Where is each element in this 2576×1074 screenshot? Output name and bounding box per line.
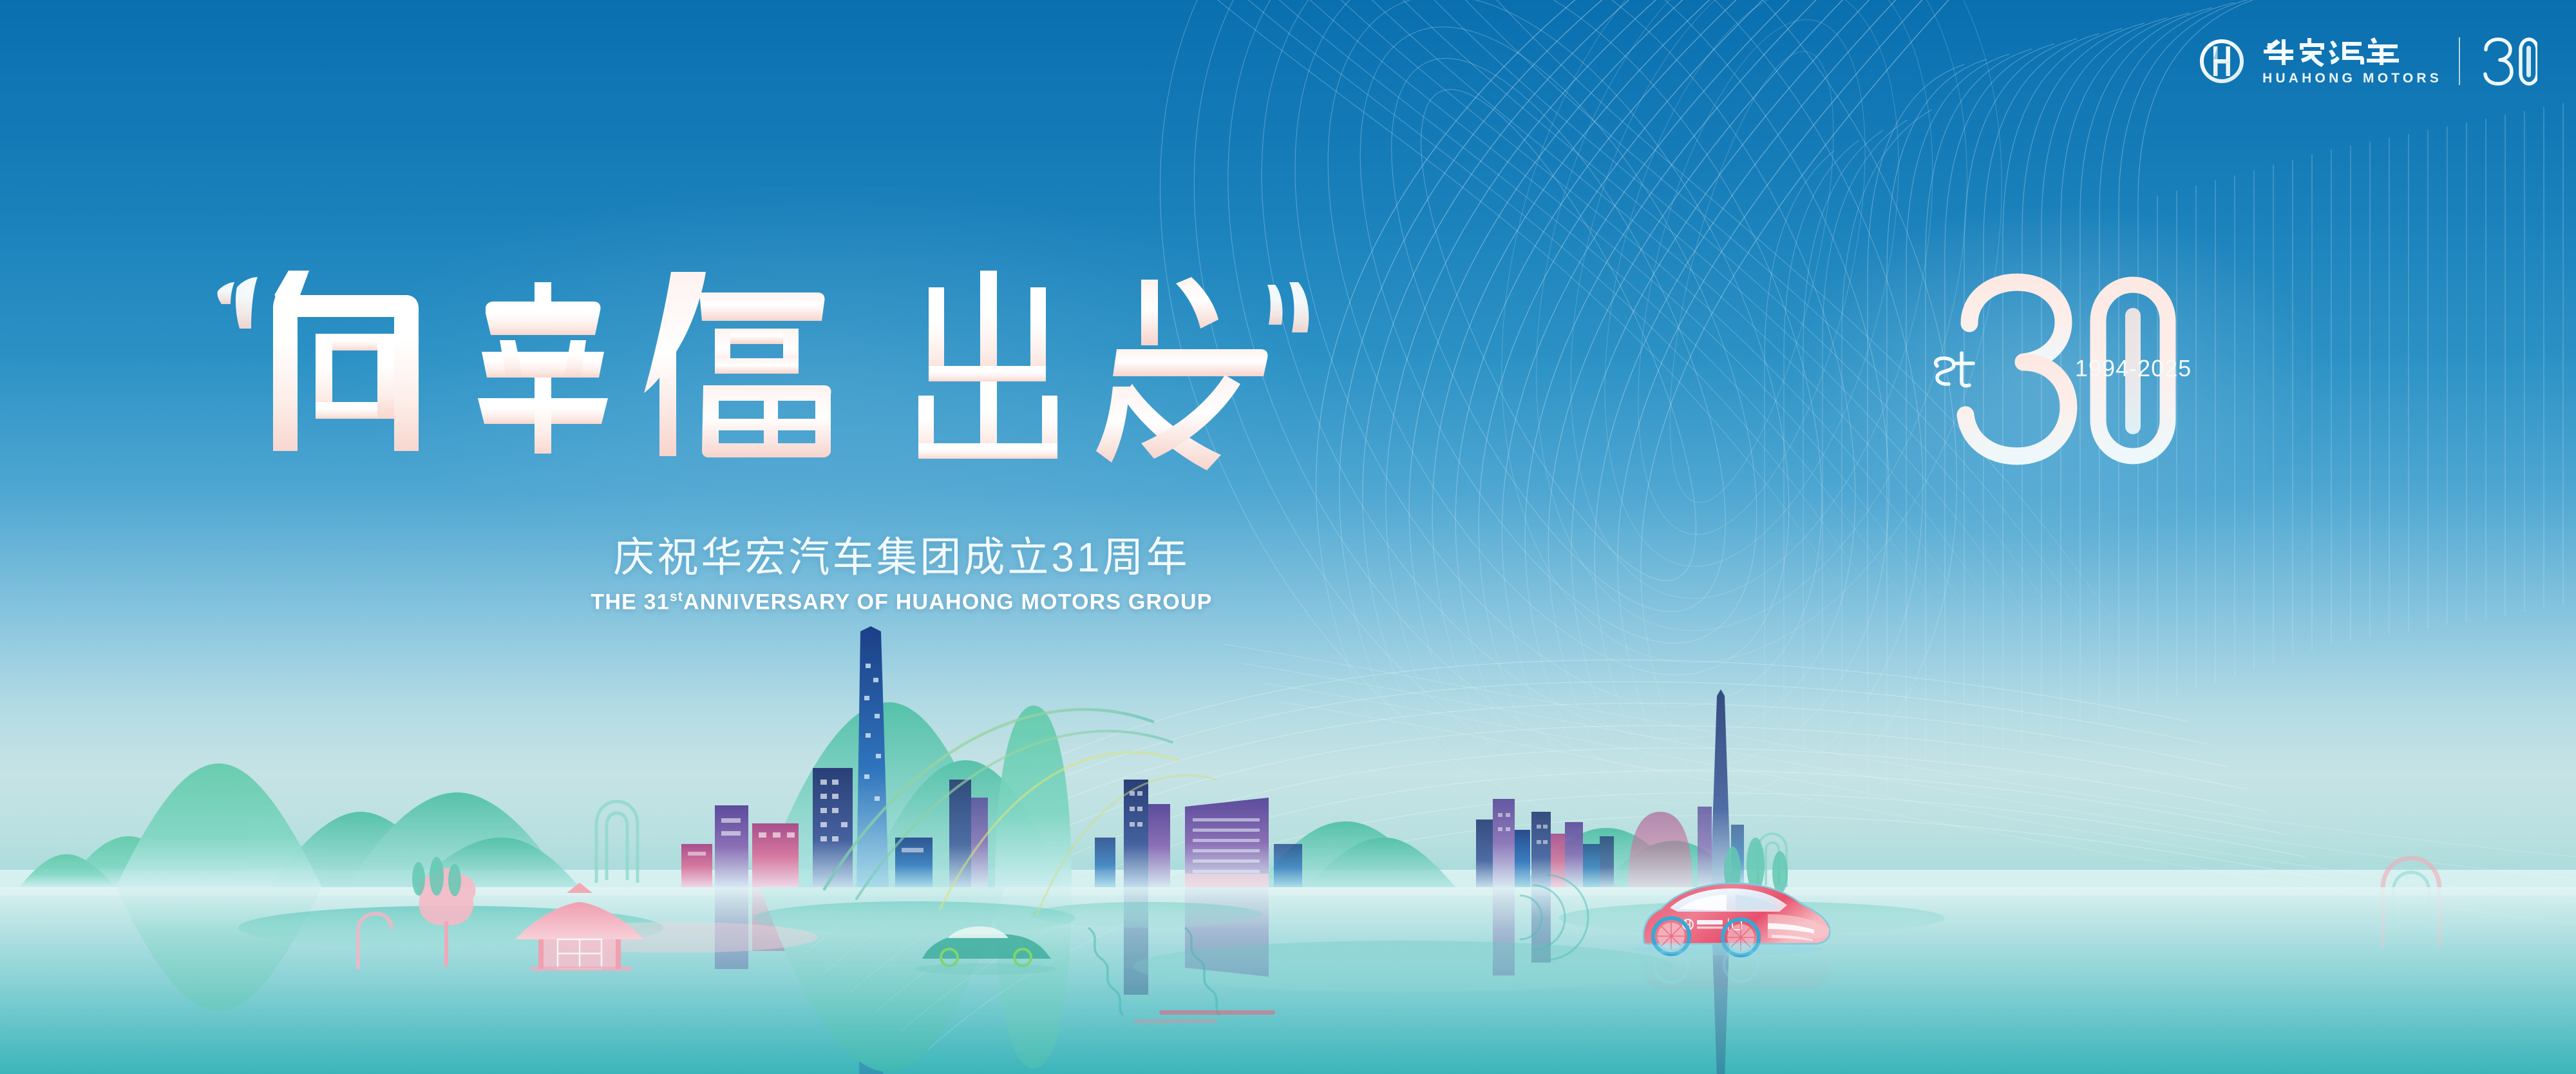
quote-close-mark bbox=[1267, 282, 1309, 332]
anniversary-years-text: 1994-2025 bbox=[2075, 355, 2192, 381]
mountains-left bbox=[19, 763, 322, 887]
brand-lockup[interactable]: HUAHONG MOTORS bbox=[2198, 34, 2537, 89]
brand-31-badge-icon bbox=[2477, 35, 2537, 87]
headline-char-3 bbox=[644, 272, 831, 457]
headline-char-2 bbox=[478, 282, 608, 454]
anniversary-years: 1994-2025 bbox=[2075, 355, 2192, 381]
anniversary-digit-3 bbox=[1965, 282, 2069, 456]
headline-char-4 bbox=[918, 271, 1057, 459]
anniversary-ordinal bbox=[1936, 353, 1973, 386]
brand-wordmark: HUAHONG MOTORS bbox=[2262, 37, 2442, 86]
huahong-circle-emblem-icon bbox=[2198, 37, 2246, 85]
anniversary-mark: 1994-2025 bbox=[1926, 271, 2202, 470]
scenery-illustration bbox=[0, 567, 2576, 1074]
banner-canvas: 庆祝华宏汽车集团成立31周年 THE 31stANNIVERSARY OF HU… bbox=[0, 0, 2576, 1074]
quote-open-mark bbox=[217, 277, 258, 329]
headline-char-1 bbox=[273, 271, 419, 451]
brand-name-english: HUAHONG MOTORS bbox=[2262, 71, 2442, 86]
brand-name-chinese-icon bbox=[2262, 37, 2423, 68]
headline bbox=[213, 258, 1629, 470]
headline-char-5 bbox=[1096, 277, 1268, 470]
brand-divider bbox=[2459, 37, 2460, 85]
hero-car bbox=[1575, 847, 1851, 989]
